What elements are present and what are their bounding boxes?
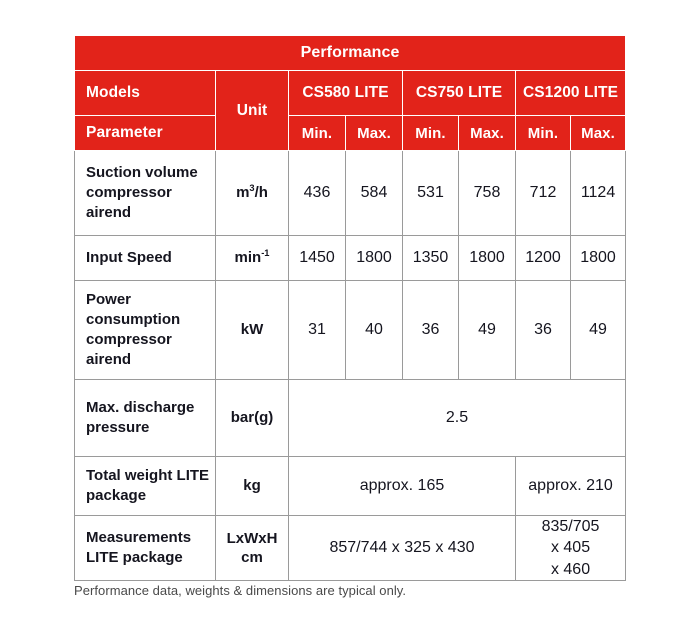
row-unit: kg	[216, 456, 289, 515]
measurement-line-1: 835/705	[542, 518, 600, 535]
cell-value: 712	[516, 151, 571, 236]
table-body: Suction volume compressor airend m3/h 43…	[75, 151, 626, 581]
unit-rest: /h	[255, 184, 268, 201]
table-row: Power consumption compressor airend kW 3…	[75, 281, 626, 380]
header-cs580-min: Min.	[289, 116, 346, 151]
table-row: Measurements LITE package LxWxHcm 857/74…	[75, 515, 626, 581]
cell-value: 1350	[403, 236, 459, 281]
measurement-line-3: x 460	[551, 561, 590, 578]
unit-superscript: -1	[261, 248, 269, 258]
specification-table-container: Performance Models Unit CS580 LITE CS750…	[74, 35, 625, 581]
cell-value: 584	[346, 151, 403, 236]
unit-base: LxWxH	[227, 530, 278, 547]
unit-rest: cm	[241, 549, 263, 566]
row-unit: LxWxHcm	[216, 515, 289, 581]
row-unit: bar(g)	[216, 379, 289, 456]
unit-base: m	[236, 184, 249, 201]
header-models-row: Models Unit CS580 LITE CS750 LITE CS1200…	[75, 71, 626, 116]
header-models-label: Models	[75, 71, 216, 116]
row-parameter-label: Max. discharge pressure	[75, 379, 216, 456]
unit-base: min	[235, 249, 262, 266]
table-row: Suction volume compressor airend m3/h 43…	[75, 151, 626, 236]
row-unit: m3/h	[216, 151, 289, 236]
table-title: Performance	[75, 36, 626, 71]
header-unit-label: Unit	[216, 71, 289, 151]
unit-base: bar(g)	[231, 409, 274, 426]
header-cs1200-max: Max.	[571, 116, 626, 151]
unit-base: kg	[243, 477, 261, 494]
footnote-text: Performance data, weights & dimensions a…	[74, 583, 406, 598]
row-parameter-label: Total weight LITE package	[75, 456, 216, 515]
row-parameter-label: Power consumption compressor airend	[75, 281, 216, 380]
cell-value-spanned-right: 835/705x 405x 460	[516, 515, 626, 581]
header-cs1200-min: Min.	[516, 116, 571, 151]
table-row: Total weight LITE package kg approx. 165…	[75, 456, 626, 515]
cell-value: 36	[403, 281, 459, 380]
header-parameter-row: Parameter Min. Max. Min. Max. Min. Max.	[75, 116, 626, 151]
cell-value: 36	[516, 281, 571, 380]
header-parameter-label: Parameter	[75, 116, 216, 151]
cell-value: 40	[346, 281, 403, 380]
header-cs750-max: Max.	[459, 116, 516, 151]
header-title-row: Performance	[75, 36, 626, 71]
table-row: Input Speed min-1 1450 1800 1350 1800 12…	[75, 236, 626, 281]
cell-value: 1800	[459, 236, 516, 281]
cell-value-spanned-left: approx. 165	[289, 456, 516, 515]
header-cs750-min: Min.	[403, 116, 459, 151]
header-model-cs580: CS580 LITE	[289, 71, 403, 116]
measurement-line-2: x 405	[551, 539, 590, 556]
cell-value: 1800	[346, 236, 403, 281]
cell-value-spanned: 2.5	[289, 379, 626, 456]
cell-value: 758	[459, 151, 516, 236]
cell-value: 531	[403, 151, 459, 236]
row-parameter-label: Measurements LITE package	[75, 515, 216, 581]
unit-base: kW	[241, 321, 264, 338]
header-model-cs1200: CS1200 LITE	[516, 71, 626, 116]
cell-value: 49	[459, 281, 516, 380]
row-unit: kW	[216, 281, 289, 380]
cell-value: 1200	[516, 236, 571, 281]
performance-specification-table: Performance Models Unit CS580 LITE CS750…	[74, 35, 626, 581]
cell-value: 49	[571, 281, 626, 380]
header-model-cs750: CS750 LITE	[403, 71, 516, 116]
cell-value-spanned-right: approx. 210	[516, 456, 626, 515]
cell-value: 436	[289, 151, 346, 236]
table-header: Performance Models Unit CS580 LITE CS750…	[75, 36, 626, 151]
cell-value: 1450	[289, 236, 346, 281]
header-cs580-max: Max.	[346, 116, 403, 151]
row-unit: min-1	[216, 236, 289, 281]
cell-value: 1800	[571, 236, 626, 281]
cell-value: 1124	[571, 151, 626, 236]
cell-value: 31	[289, 281, 346, 380]
cell-value-spanned-left: 857/744 x 325 x 430	[289, 515, 516, 581]
row-parameter-label: Input Speed	[75, 236, 216, 281]
table-row: Max. discharge pressure bar(g) 2.5	[75, 379, 626, 456]
row-parameter-label: Suction volume compressor airend	[75, 151, 216, 236]
